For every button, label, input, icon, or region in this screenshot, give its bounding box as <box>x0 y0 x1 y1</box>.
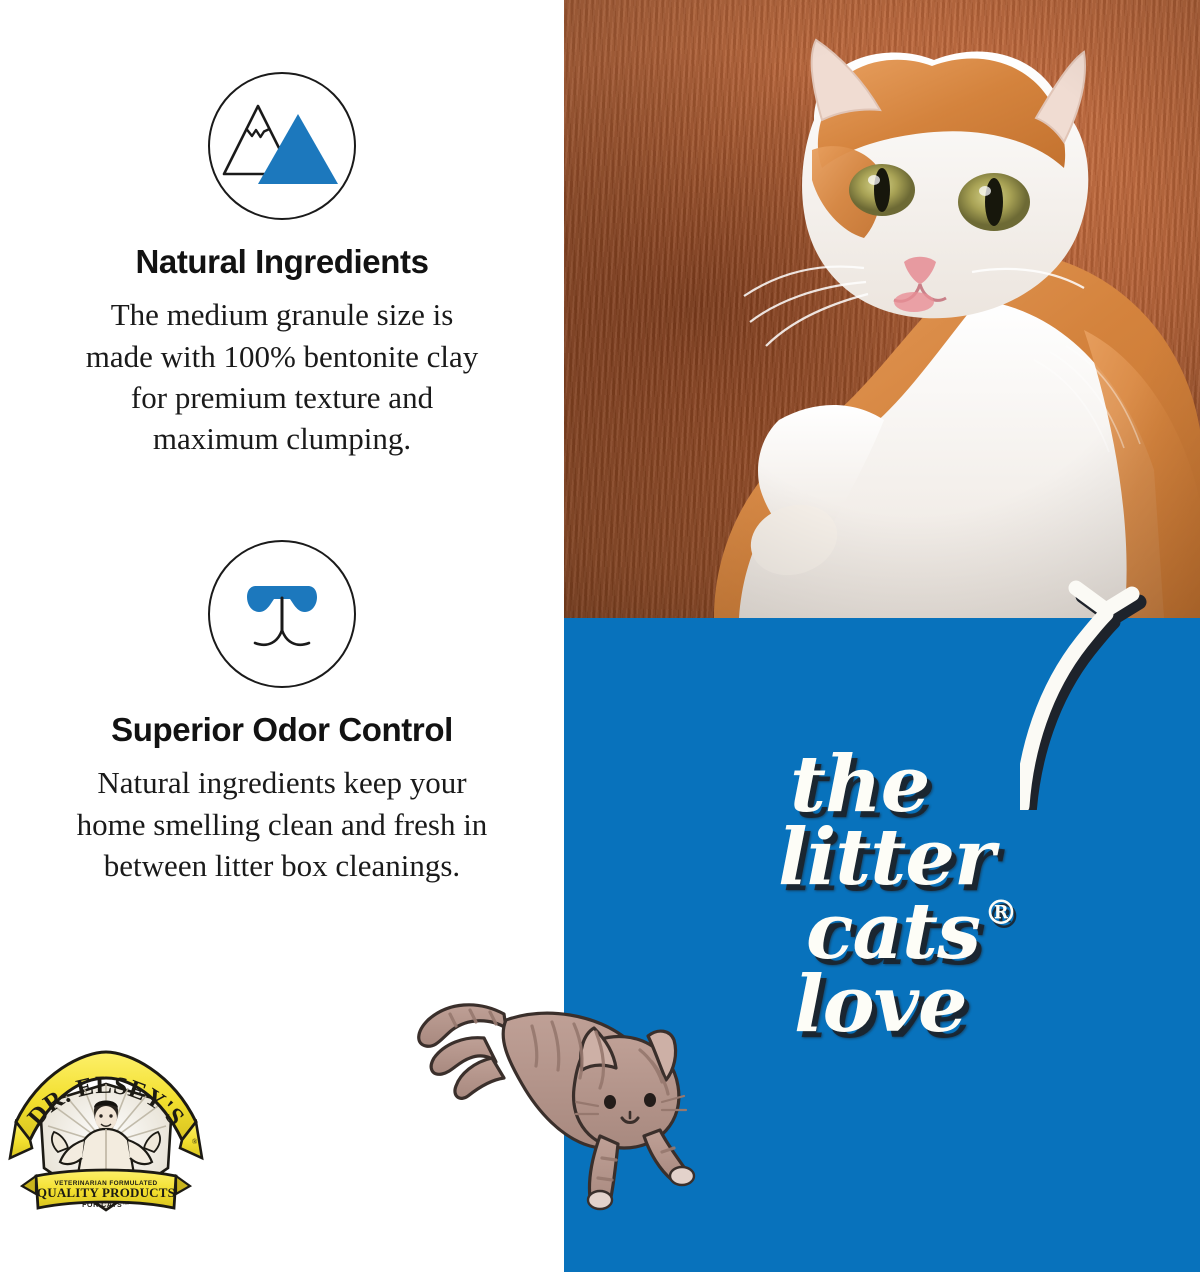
feature-body: Natural ingredients keep your home smell… <box>32 762 532 886</box>
leaping-cat-illustration <box>386 962 726 1212</box>
brand-logo: DR. ELSEY'S ® VETERINARIAN FORMULATED QU… <box>6 1048 206 1228</box>
feature-body-line: maximum clumping. <box>32 418 532 459</box>
feature-body: The medium granule size is made with 100… <box>32 294 532 459</box>
feature-body-line: Natural ingredients keep your <box>32 762 532 803</box>
feature-natural-ingredients: Natural Ingredients The medium granule s… <box>0 72 564 459</box>
registered-mark-logo: ® <box>192 1138 198 1146</box>
feature-body-line: between litter box cleanings. <box>32 845 532 886</box>
logo-banner-line-3: FOR CATS™ <box>82 1202 130 1209</box>
cat-photo <box>564 0 1200 618</box>
feature-body-line: The medium granule size is <box>32 294 532 335</box>
registered-mark: ® <box>984 893 1017 933</box>
cat-nose-icon <box>208 540 356 688</box>
logo-banner-line-2: QUALITY PRODUCTS <box>37 1185 175 1200</box>
feature-title: Superior Odor Control <box>0 712 564 748</box>
mountain-icon <box>208 72 356 220</box>
tagline-line-2: litter <box>778 821 1120 894</box>
tagline-line-1: the <box>790 748 1120 821</box>
feature-title: Natural Ingredients <box>0 244 564 280</box>
tagline-line-3: cats® <box>806 895 1120 968</box>
tagline: the litter cats® love <box>790 748 1120 1041</box>
feature-superior-odor-control: Superior Odor Control Natural ingredient… <box>0 540 564 886</box>
feature-body-line: made with 100% bentonite clay <box>32 336 532 377</box>
tagline-line-4: love <box>794 968 1120 1041</box>
feature-body-line: home smelling clean and fresh in <box>32 804 532 845</box>
feature-body-line: for premium texture and <box>32 377 532 418</box>
promo-graphic: Natural Ingredients The medium granule s… <box>0 0 1200 1272</box>
photo-vignette <box>564 0 1200 618</box>
